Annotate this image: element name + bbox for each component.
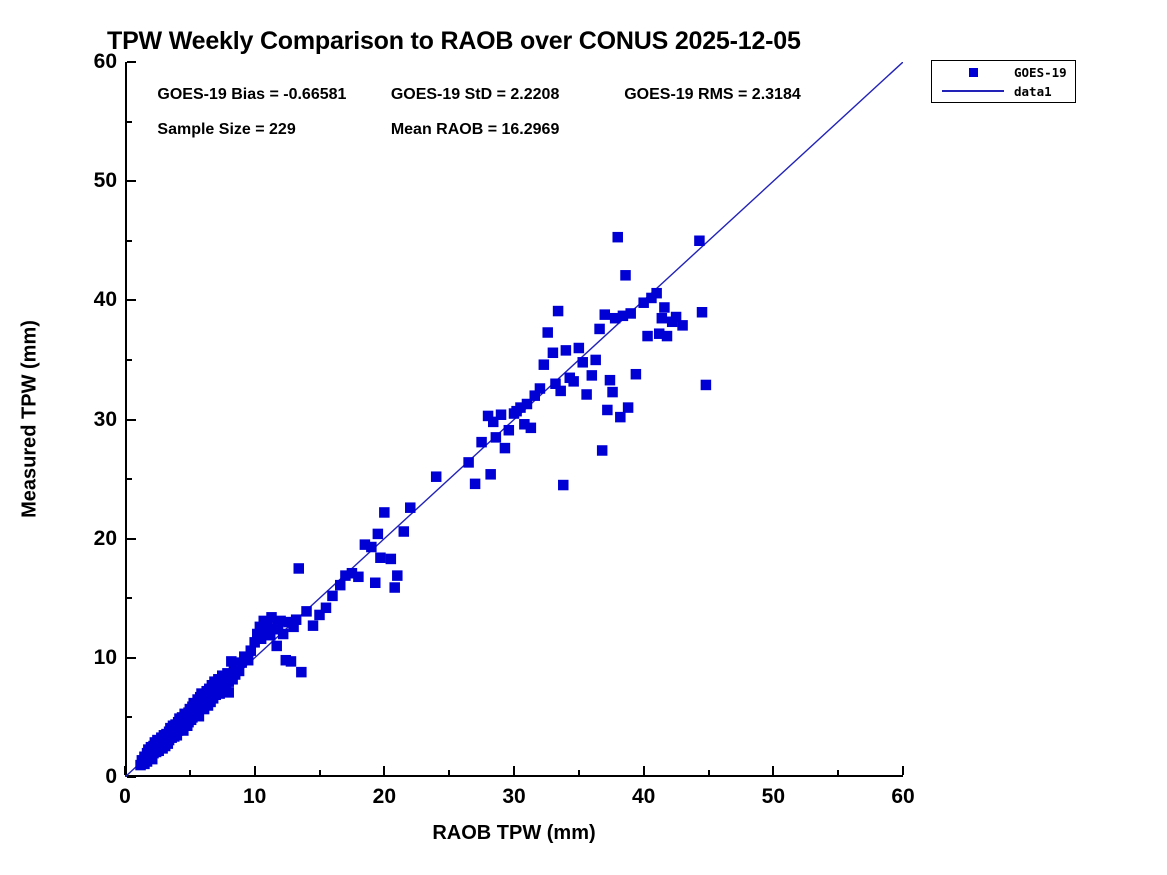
chart-title: TPW Weekly Comparison to RAOB over CONUS… xyxy=(107,27,801,56)
stat-annotation-3: Sample Size = 229 xyxy=(157,121,295,139)
scatter-point xyxy=(600,309,611,320)
scatter-point xyxy=(659,302,670,313)
scatter-point xyxy=(223,687,234,698)
chart-legend[interactable]: GOES-19 data1 xyxy=(931,60,1076,103)
legend-entry-data1[interactable]: data1 xyxy=(932,81,1075,101)
line-sample-icon xyxy=(942,90,1004,92)
scatter-point xyxy=(568,376,579,387)
scatter-point xyxy=(542,327,553,338)
y-axis-label: Measured TPW (mm) xyxy=(19,320,42,518)
scatter-point xyxy=(590,355,601,366)
legend-marker-sample xyxy=(932,68,1014,77)
scatter-point xyxy=(463,457,474,468)
y-tick-label-30: 30 xyxy=(94,408,117,432)
x-tick-label-50: 50 xyxy=(762,785,785,809)
y-tick-label-10: 10 xyxy=(94,646,117,670)
square-marker-icon xyxy=(969,68,978,77)
y-tick-label-0: 0 xyxy=(105,765,117,789)
scatter-point xyxy=(539,359,550,370)
scatter-point xyxy=(535,383,546,394)
scatter-point xyxy=(373,529,384,540)
scatter-point xyxy=(286,656,297,667)
scatter-point xyxy=(392,570,403,581)
scatter-point xyxy=(366,542,377,553)
y-tick-label-40: 40 xyxy=(94,288,117,312)
scatter-point xyxy=(623,402,634,413)
scatter-point xyxy=(662,331,673,342)
scatter-point xyxy=(558,480,569,491)
scatter-point xyxy=(335,580,346,591)
scatter-point xyxy=(620,270,631,281)
legend-label-data1: data1 xyxy=(1014,84,1052,99)
scatter-point xyxy=(577,357,588,368)
scatter-point xyxy=(470,479,481,490)
scatter-point xyxy=(327,591,338,602)
stat-annotation-0: GOES-19 Bias = -0.66581 xyxy=(157,86,346,104)
scatter-point xyxy=(431,471,442,482)
scatter-point xyxy=(399,526,410,537)
x-tick-label-10: 10 xyxy=(243,785,266,809)
scatter-point xyxy=(607,387,618,398)
scatter-point xyxy=(370,578,381,589)
scatter-point xyxy=(677,320,688,331)
scatter-point xyxy=(386,554,397,565)
legend-line-sample xyxy=(932,90,1014,92)
scatter-point xyxy=(375,552,386,563)
scatter-point xyxy=(271,641,282,652)
scatter-point xyxy=(574,343,585,354)
legend-label-goes19: GOES-19 xyxy=(1014,65,1067,80)
scatter-point xyxy=(625,308,636,319)
scatter-point xyxy=(605,375,616,386)
scatter-point xyxy=(553,306,564,317)
scatter-point xyxy=(581,389,592,400)
stat-annotation-2: GOES-19 RMS = 2.3184 xyxy=(624,86,801,104)
x-tick-label-60: 60 xyxy=(891,785,914,809)
y-tick-label-50: 50 xyxy=(94,169,117,193)
scatter-point xyxy=(308,620,319,631)
scatter-point xyxy=(301,606,312,617)
scatter-point xyxy=(615,412,626,423)
stat-annotation-4: Mean RAOB = 16.2969 xyxy=(391,121,560,139)
scatter-point xyxy=(278,629,289,640)
scatter-point xyxy=(594,324,605,335)
scatter-point xyxy=(476,437,487,448)
x-tick-label-0: 0 xyxy=(119,785,131,809)
scatter-point xyxy=(491,432,502,443)
scatter-point xyxy=(697,307,708,318)
scatter-point xyxy=(561,345,572,356)
y-tick-label-20: 20 xyxy=(94,527,117,551)
scatter-point xyxy=(500,443,511,454)
scatter-point xyxy=(602,405,613,416)
x-axis-label: RAOB TPW (mm) xyxy=(432,822,595,845)
y-tick-label-60: 60 xyxy=(94,50,117,74)
scatter-point xyxy=(526,423,537,434)
scatter-svg xyxy=(125,62,903,777)
figure-canvas: TPW Weekly Comparison to RAOB over CONUS… xyxy=(0,0,1167,875)
scatter-point xyxy=(631,369,642,380)
stat-annotation-1: GOES-19 StD = 2.2208 xyxy=(391,86,560,104)
scatter-point xyxy=(496,409,507,420)
scatter-point xyxy=(612,232,623,243)
scatter-point xyxy=(321,603,332,614)
plot-axes: 0102030405060 0102030405060 GOES-19 Bias… xyxy=(125,62,903,777)
scatter-point xyxy=(243,655,254,666)
scatter-point xyxy=(296,667,307,678)
scatter-point xyxy=(597,445,608,456)
scatter-point xyxy=(379,507,390,518)
scatter-point xyxy=(555,386,566,397)
scatter-point xyxy=(657,313,668,324)
scatter-point xyxy=(701,380,712,391)
goes19-scatter-series xyxy=(135,232,711,770)
x-tick-label-40: 40 xyxy=(632,785,655,809)
scatter-point xyxy=(694,236,705,247)
scatter-point xyxy=(485,469,496,480)
scatter-point xyxy=(294,563,305,574)
legend-entry-goes19[interactable]: GOES-19 xyxy=(932,62,1075,82)
scatter-point xyxy=(353,572,364,583)
scatter-point xyxy=(389,582,400,593)
scatter-point xyxy=(405,502,416,513)
x-tick-label-30: 30 xyxy=(502,785,525,809)
scatter-point xyxy=(291,614,302,625)
scatter-plot-area xyxy=(125,62,903,777)
scatter-point xyxy=(504,425,515,436)
scatter-point xyxy=(642,331,653,342)
scatter-point xyxy=(548,348,559,359)
x-tick-label-20: 20 xyxy=(373,785,396,809)
scatter-point xyxy=(587,370,598,381)
scatter-point xyxy=(651,288,662,299)
